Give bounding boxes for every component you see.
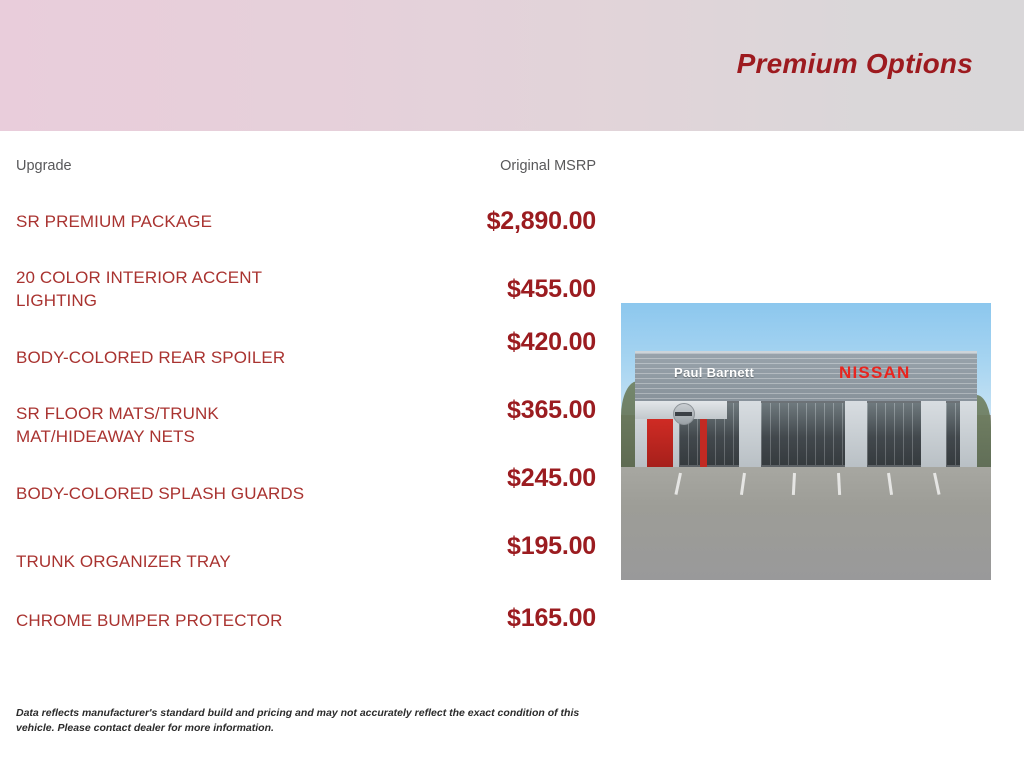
table-row: BODY-COLORED SPLASH GUARDS $245.00	[16, 459, 596, 527]
option-label: SR FLOOR MATS/TRUNK MAT/HIDEAWAY NETS	[16, 402, 346, 448]
parking-stall-line	[792, 473, 796, 495]
parking-stall-line	[674, 473, 682, 495]
glass-bay	[946, 403, 960, 465]
option-price: $455.00	[507, 275, 596, 304]
parking-stall-line	[740, 473, 746, 495]
table-row: TRUNK ORGANIZER TRAY $195.00	[16, 527, 596, 595]
option-price: $365.00	[507, 396, 596, 425]
entrance-accent-stripe	[700, 419, 707, 467]
facade-pylon	[960, 401, 977, 467]
dealer-name-sign: Paul Barnett	[674, 365, 754, 380]
parking-stall-line	[837, 473, 841, 495]
column-header-msrp: Original MSRP	[500, 158, 596, 174]
brand-sign: NISSAN	[839, 363, 910, 383]
table-header-row: Upgrade Original MSRP	[16, 158, 596, 188]
option-price: $2,890.00	[487, 207, 596, 236]
table-row: SR PREMIUM PACKAGE $2,890.00	[16, 188, 596, 255]
parking-stall-line	[933, 473, 941, 495]
option-label: 20 COLOR INTERIOR ACCENT LIGHTING	[16, 266, 346, 312]
table-row: BODY-COLORED REAR SPOILER $420.00	[16, 323, 596, 391]
option-label: BODY-COLORED SPLASH GUARDS	[16, 482, 304, 505]
dealership-photo: Paul Barnett NISSAN	[621, 303, 991, 580]
option-label: BODY-COLORED REAR SPOILER	[16, 346, 285, 369]
glass-bay	[867, 403, 921, 465]
option-price: $165.00	[507, 604, 596, 633]
nissan-logo-icon	[673, 403, 695, 425]
page-title: Premium Options	[737, 48, 973, 80]
option-label: SR PREMIUM PACKAGE	[16, 210, 212, 233]
glass-bay	[761, 403, 845, 465]
option-price: $245.00	[507, 464, 596, 493]
premium-options-page: Premium Options Upgrade Original MSRP SR…	[0, 0, 1024, 768]
facade-pylon	[845, 401, 867, 467]
facade-pylon	[921, 401, 946, 467]
option-label: TRUNK ORGANIZER TRAY	[16, 550, 231, 573]
option-price: $195.00	[507, 532, 596, 561]
facade-pylon	[739, 401, 761, 467]
option-price: $420.00	[507, 328, 596, 357]
table-row: 20 COLOR INTERIOR ACCENT LIGHTING $455.0…	[16, 255, 596, 323]
parking-lot	[621, 467, 991, 580]
column-header-upgrade: Upgrade	[16, 158, 72, 174]
options-table: Upgrade Original MSRP SR PREMIUM PACKAGE…	[16, 158, 596, 645]
table-row: SR FLOOR MATS/TRUNK MAT/HIDEAWAY NETS $3…	[16, 391, 596, 459]
option-label: CHROME BUMPER PROTECTOR	[16, 609, 282, 632]
parking-stall-line	[887, 473, 893, 495]
header-banner: Premium Options	[0, 0, 1024, 131]
entrance-door	[647, 419, 673, 467]
disclaimer-text: Data reflects manufacturer's standard bu…	[16, 706, 616, 736]
table-row: CHROME BUMPER PROTECTOR $165.00	[16, 595, 596, 645]
